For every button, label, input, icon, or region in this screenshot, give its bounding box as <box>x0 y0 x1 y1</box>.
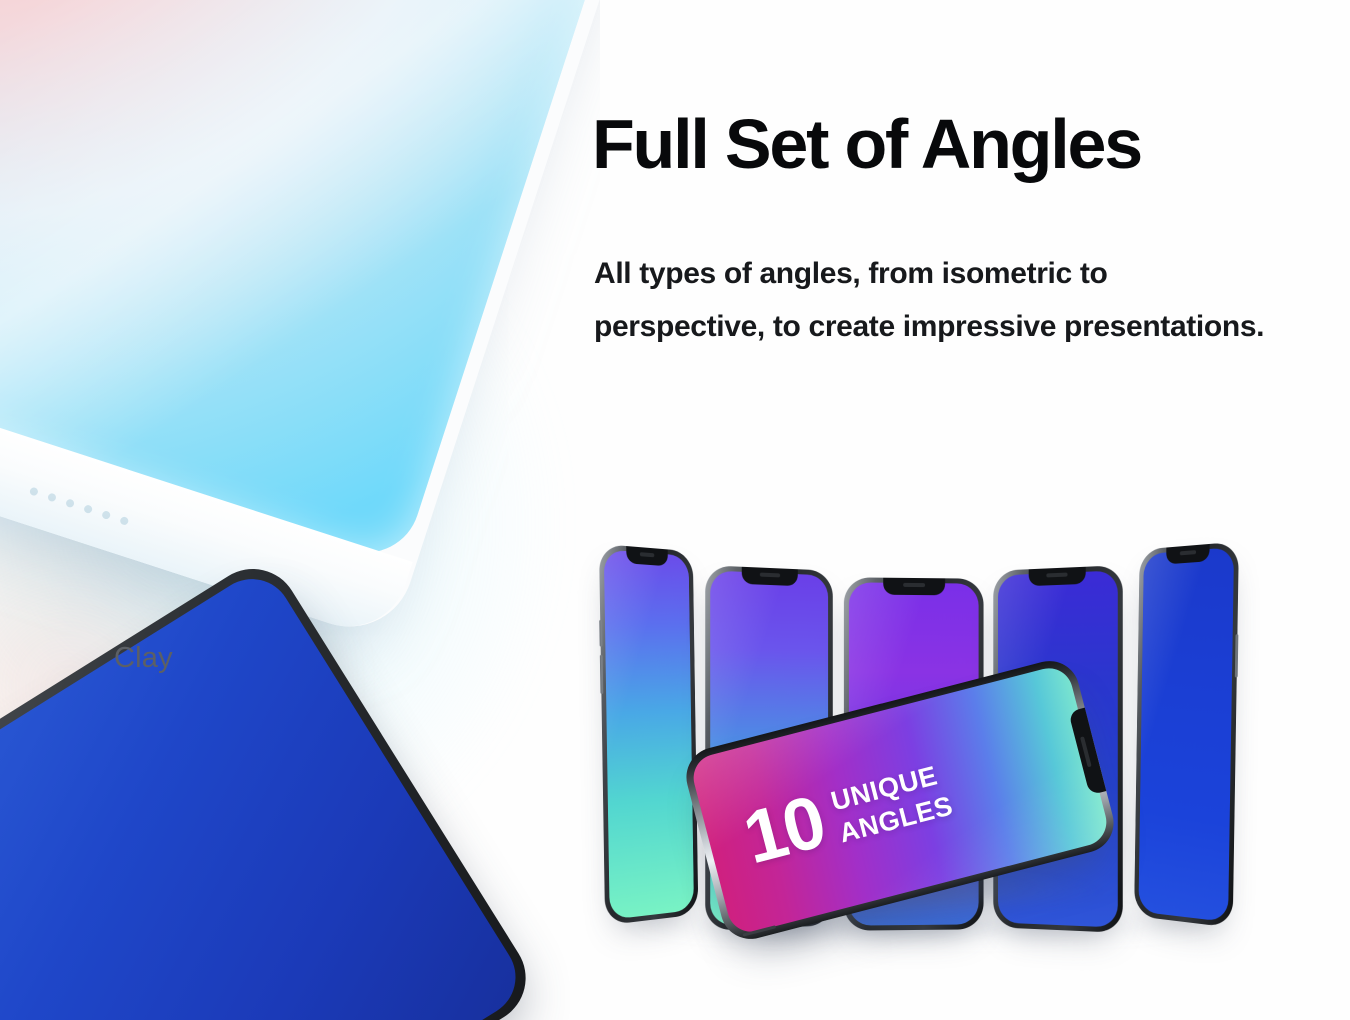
content-column: Full Set of Angles All types of angles, … <box>592 0 1350 1020</box>
blue-device-mockup <box>0 552 543 1020</box>
phone-notch-icon <box>742 567 798 586</box>
hero-phone-number: 10 <box>738 789 830 870</box>
phone-screen-glare <box>1134 542 1239 928</box>
phone-notch-icon <box>883 578 944 596</box>
tablet-mockup <box>0 0 600 643</box>
slide-canvas: Clay Full Set of Angles All types of ang… <box>0 0 1350 1020</box>
phone-notch-icon <box>626 546 668 566</box>
phone-screen-glare <box>599 544 698 926</box>
left-mockup-panel: Clay <box>0 0 600 1020</box>
phone-angle-1 <box>599 544 698 926</box>
phone-notch-icon <box>1029 567 1086 586</box>
clay-brand-label: Clay <box>114 642 173 675</box>
phone-angles-illustration: 10 UNIQUE ANGLES <box>592 520 1292 980</box>
blue-device-frame <box>0 552 543 1020</box>
phone-angle-5 <box>1134 542 1239 928</box>
page-title: Full Set of Angles <box>592 108 1292 181</box>
page-subtitle: All types of angles, from isometric to p… <box>594 248 1274 354</box>
blue-device-screen <box>0 564 531 1020</box>
